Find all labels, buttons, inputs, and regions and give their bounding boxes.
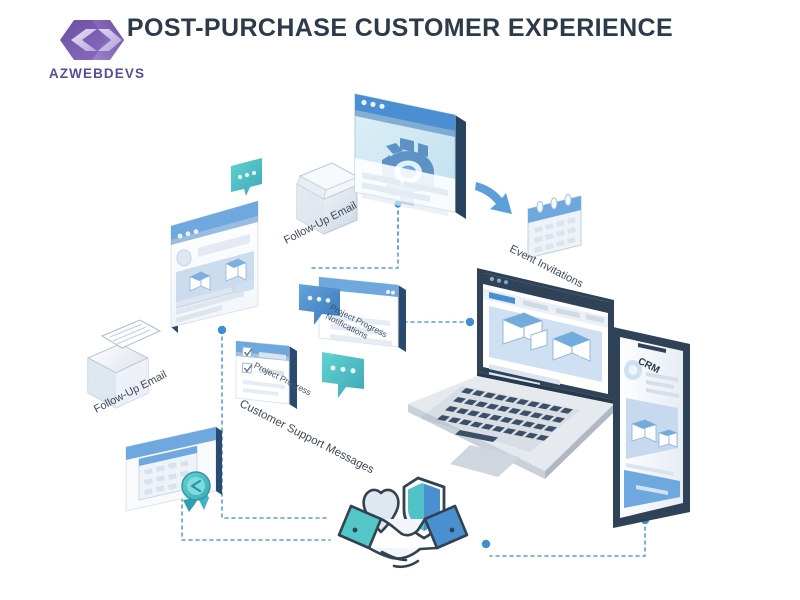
customer-support-messages-icon[interactable] [236, 341, 364, 409]
handshake-trust-icon[interactable] [339, 478, 467, 567]
award-ribbon-icon [182, 472, 210, 512]
property-listing-window[interactable] [171, 201, 258, 333]
loyalty-reward-card-icon[interactable] [126, 427, 222, 512]
chat-bubble-teal-top[interactable] [231, 158, 262, 196]
laptop-isometric[interactable] [408, 268, 614, 479]
flow-arrow-icon [475, 182, 512, 214]
checkbox-checked[interactable] [242, 347, 252, 357]
event-invitations-icon[interactable] [528, 195, 581, 259]
automation-settings-window[interactable] [355, 94, 466, 219]
isometric-illustration [0, 0, 800, 600]
phone-crm-app[interactable] [613, 327, 690, 528]
checkbox-checked[interactable] [242, 363, 252, 373]
infographic-canvas: AZWEBDEVS POST-PURCHASE CUSTOMER EXPERIE… [0, 0, 800, 600]
